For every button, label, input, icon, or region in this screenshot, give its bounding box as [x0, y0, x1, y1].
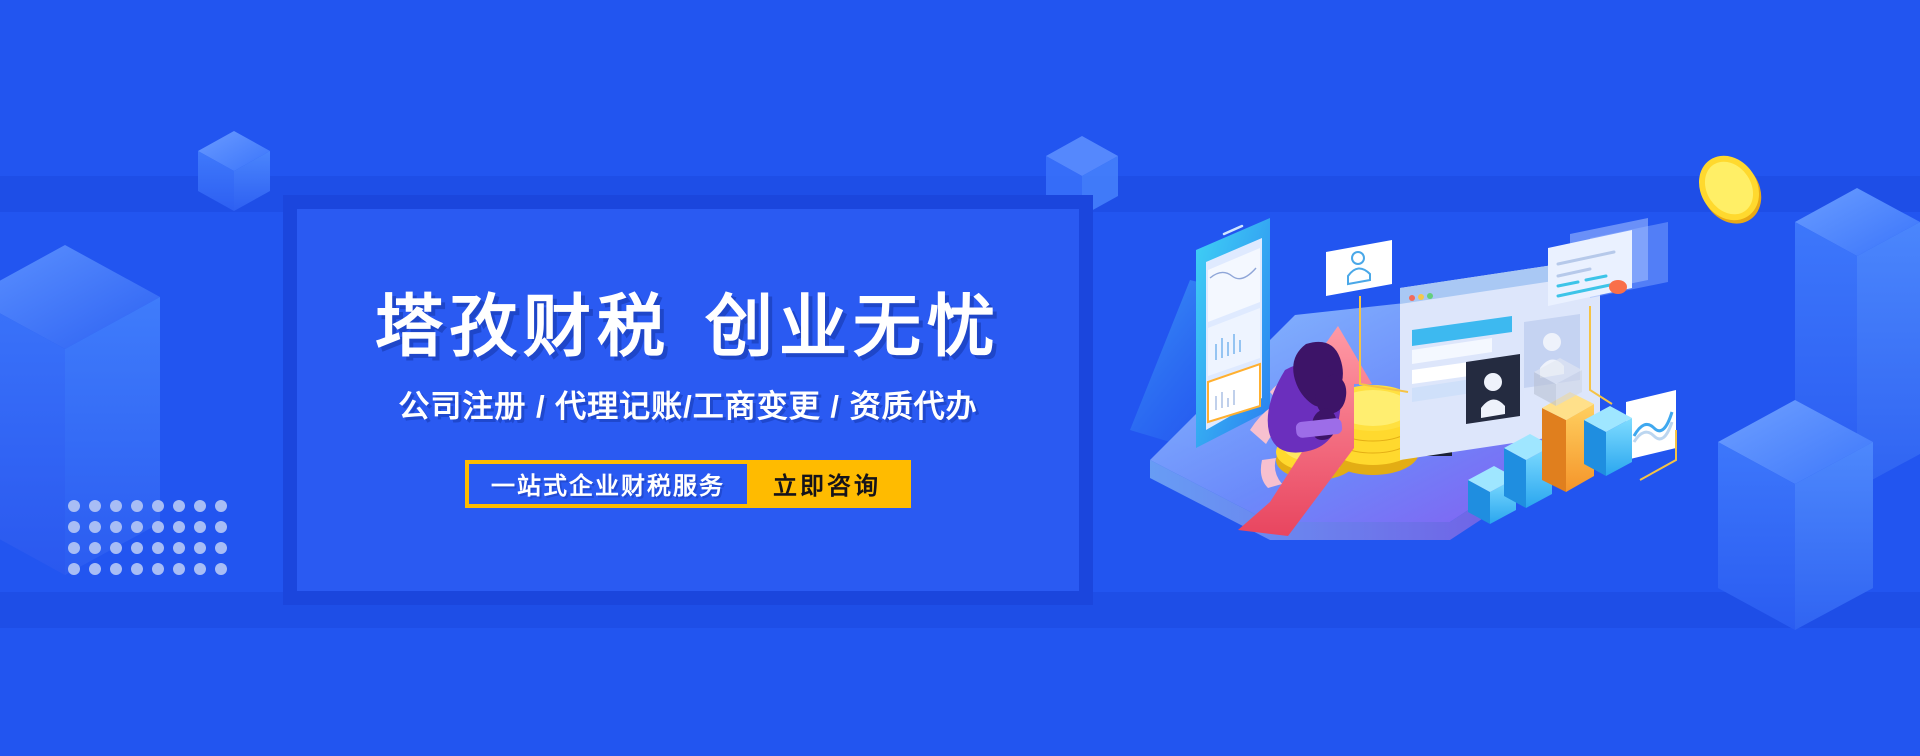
isometric-pillar-icon-right [1795, 188, 1920, 488]
banner-content: 塔孜财税创业无忧 公司注册 / 代理记账/工商变更 / 资质代办 一站式企业财税… [297, 209, 1079, 591]
gold-coin-icon-large [1690, 148, 1768, 233]
isometric-cube-icon-bottom-right [1718, 400, 1873, 630]
dot-grid-pattern [68, 500, 236, 584]
line-chart-card [1626, 390, 1676, 460]
consult-now-button[interactable]: 立即咨询 [747, 464, 907, 504]
promo-banner: 塔孜财税创业无忧 公司注册 / 代理记账/工商变更 / 资质代办 一站式企业财税… [0, 0, 1920, 756]
isometric-pillar-icon-left [0, 245, 160, 575]
headline-right-text: 创业无忧 [705, 289, 1001, 365]
credit-card [1548, 218, 1668, 306]
cta-tagline: 一站式企业财税服务 [469, 464, 747, 504]
cta-group: 一站式企业财税服务 立即咨询 [465, 460, 911, 508]
page-title: 塔孜财税创业无忧 [375, 293, 1001, 361]
profile-card [1326, 240, 1392, 296]
headline-left-text: 塔孜财税 [375, 289, 671, 365]
smartphone-chart-screen [1196, 218, 1270, 448]
isometric-cube-icon-top-left [198, 131, 270, 211]
service-list-subtitle: 公司注册 / 代理记账/工商变更 / 资质代办 [398, 391, 977, 422]
fintech-isometric-illustration [1120, 130, 1680, 590]
